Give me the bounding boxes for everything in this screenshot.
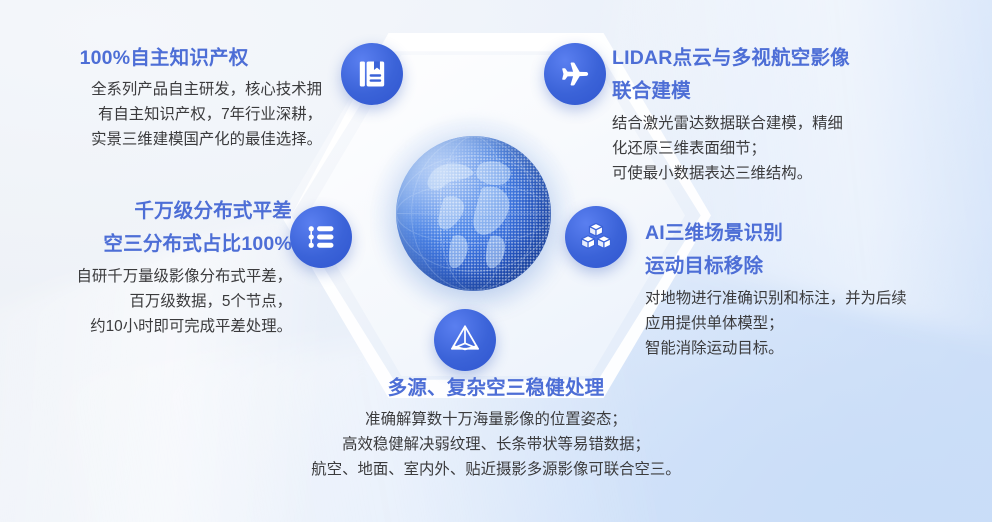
list-icon — [304, 220, 338, 254]
globe-sphere — [396, 136, 551, 291]
feature-body-line: 化还原三维表面细节； — [612, 137, 988, 162]
feature-body-line: 百万级数据，5个节点， — [10, 290, 292, 315]
feature-icon-adjustment[interactable] — [290, 206, 352, 268]
feature-heading-lidar: LIDAR点云与多视航空影像 — [612, 45, 988, 73]
feature-block-ai: AI三维场景识别 运动目标移除 对地物进行准确识别和标注，并为后续 应用提供单体… — [645, 220, 991, 362]
feature-heading-ai: AI三维场景识别 — [645, 220, 991, 248]
feature-body-line: 可使最小数据表达三维结构。 — [612, 162, 988, 187]
feature-heading-lidar-2: 联合建模 — [612, 78, 988, 106]
center-globe — [396, 136, 551, 291]
feature-heading-adjustment-2: 空三分布式占比100% — [10, 231, 292, 259]
feature-heading-adjustment: 千万级分布式平差 — [10, 198, 292, 226]
feature-heading-robust: 多源、复杂空三稳健处理 — [231, 375, 761, 403]
feature-body-line: 高效稳健解决弱纹理、长条带状等易错数据； — [231, 433, 761, 458]
globe-highlight — [396, 136, 551, 291]
feature-heading-ip: 100%自主知识产权 — [12, 45, 322, 73]
cubes-icon — [579, 220, 613, 254]
feature-body-line: 全系列产品自主研发，核心技术拥 — [12, 78, 322, 103]
feature-body-line: 对地物进行准确识别和标注，并为后续 — [645, 287, 991, 312]
feature-block-ip: 100%自主知识产权 全系列产品自主研发，核心技术拥 有自主知识产权，7年行业深… — [12, 45, 322, 153]
feature-block-robust: 多源、复杂空三稳健处理 准确解算数十万海量影像的位置姿态； 高效稳健解决弱纹理、… — [231, 375, 761, 483]
feature-body-line: 准确解算数十万海量影像的位置姿态； — [231, 408, 761, 433]
feature-body-line: 约10小时即可完成平差处理。 — [10, 315, 292, 340]
feature-icon-robust[interactable] — [434, 309, 496, 371]
feature-body-line: 自研千万量级影像分布式平差， — [10, 265, 292, 290]
book-icon — [355, 57, 389, 91]
feature-body-line: 应用提供单体模型； — [645, 312, 991, 337]
airplane-icon — [558, 57, 592, 91]
feature-heading-ai-2: 运动目标移除 — [645, 253, 991, 281]
feature-body-line: 航空、地面、室内外、贴近摄影多源影像可联合空三。 — [231, 458, 761, 483]
feature-block-lidar: LIDAR点云与多视航空影像 联合建模 结合激光雷达数据联合建模，精细 化还原三… — [612, 45, 988, 187]
feature-icon-ip[interactable] — [341, 43, 403, 105]
feature-body-line: 智能消除运动目标。 — [645, 337, 991, 362]
feature-block-adjustment: 千万级分布式平差 空三分布式占比100% 自研千万量级影像分布式平差， 百万级数… — [10, 198, 292, 340]
feature-body-line: 结合激光雷达数据联合建模，精细 — [612, 112, 988, 137]
feature-body-line: 实景三维建模国产化的最佳选择。 — [12, 128, 322, 153]
feature-icon-ai[interactable] — [565, 206, 627, 268]
infographic-poster: 100%自主知识产权 全系列产品自主研发，核心技术拥 有自主知识产权，7年行业深… — [0, 0, 992, 522]
feature-icon-lidar[interactable] — [544, 43, 606, 105]
pyramid-icon — [448, 323, 482, 357]
feature-body-line: 有自主知识产权，7年行业深耕， — [12, 103, 322, 128]
